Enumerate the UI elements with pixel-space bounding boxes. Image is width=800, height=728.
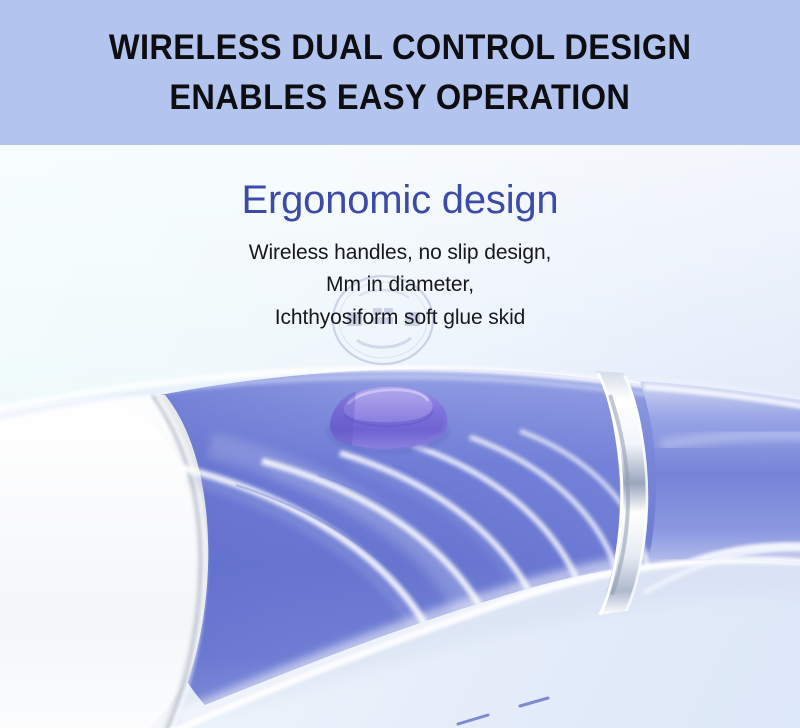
product-feature-banner-page: Ergonomic design Wireless handles, no sl… — [0, 0, 800, 728]
feature-line-3: Ichthyosiform soft glue skid — [0, 302, 800, 335]
feature-text-block: Ergonomic design Wireless handles, no sl… — [0, 178, 800, 334]
feature-line-1: Wireless handles, no slip design, — [0, 237, 800, 270]
bottom-edge-ticks — [250, 698, 548, 728]
section-headline: Ergonomic design — [0, 178, 800, 223]
banner-headline-line-2: ENABLES EASY OPERATION — [170, 73, 631, 123]
header-banner: WIRELESS DUAL CONTROL DESIGN ENABLES EAS… — [0, 0, 800, 145]
banner-headline-line-1: WIRELESS DUAL CONTROL DESIGN — [109, 23, 691, 73]
feature-line-2: Mm in diameter, — [0, 269, 800, 302]
